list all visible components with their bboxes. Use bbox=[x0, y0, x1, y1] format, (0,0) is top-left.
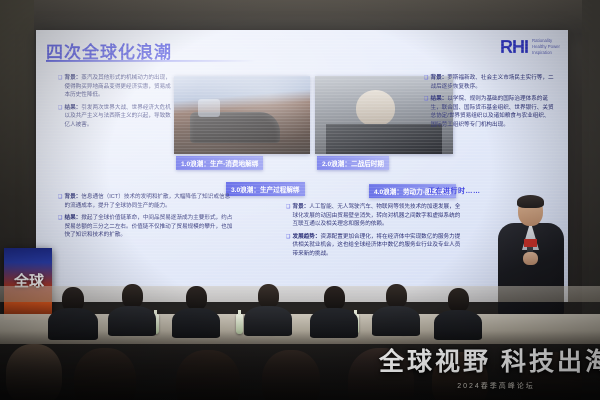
logo-mark-text: RHI bbox=[500, 38, 528, 56]
paragraph-lead: 背景： bbox=[64, 194, 81, 200]
foreground-head bbox=[6, 344, 62, 400]
paragraph-text: 引发两次世界大战、世界经济大危机以及共产主义与法西斯主义的兴起，导致数亿人被害。 bbox=[64, 105, 170, 128]
audience-head bbox=[386, 284, 407, 308]
paragraph-lead: 背景： bbox=[292, 204, 309, 210]
rollup-banner: 全球 bbox=[4, 248, 52, 320]
audience-head bbox=[122, 284, 143, 308]
wave-chip-3: 3.0浪潮：生产过程解绑 bbox=[226, 182, 305, 196]
slide-photo-steam-train bbox=[174, 76, 310, 154]
paragraph-body: 背景：蒸汽及其他形式的机械动力的出现，使得购买异地商品变得更经济实惠，贸易成本历… bbox=[64, 74, 176, 100]
square-bullet-icon: ❑ bbox=[424, 95, 428, 129]
square-bullet-icon: ❑ bbox=[58, 214, 62, 240]
audience-shoulders bbox=[48, 308, 98, 340]
square-bullet-icon: ❑ bbox=[286, 203, 290, 229]
wave-chip-2: 2.0浪潮：二战后时期 bbox=[317, 156, 389, 170]
conference-photo: 四次全球化浪潮 RHI Rationality Healthy Power In… bbox=[0, 0, 600, 400]
audience-shoulders bbox=[434, 310, 482, 340]
slide-column-wave4: ❑ 背景：人工智能、无人驾驶汽车、物联网等领先技术的加速发展，全球化发展的动因由… bbox=[286, 203, 462, 262]
foreground-head bbox=[432, 352, 488, 400]
rhi-logo: RHI Rationality Healthy Power Inspiratio… bbox=[500, 38, 560, 57]
slide-paragraph: ❑ 结果：掀起了全球价值链革命，中间品贸易逐渐成为主要形式，约占贸易总额的三分之… bbox=[58, 214, 234, 240]
paragraph-body: 背景：信息通信（ICT）技术的发明和扩散，大幅降低了知识或信息的流通成本，提升了… bbox=[64, 193, 234, 210]
slide-column-wave2: ❑ 背景：罗斯福新政、社会主义市场民主实行等，二战后逐步恢复秩序。 ❑ 结果：以… bbox=[424, 74, 554, 133]
foreground-head bbox=[520, 352, 582, 400]
square-bullet-icon: ❑ bbox=[286, 233, 290, 259]
slide-paragraph: ❑ 背景：蒸汽及其他形式的机械动力的出现，使得购买异地商品变得更经济实惠，贸易成… bbox=[58, 74, 176, 100]
square-bullet-icon: ❑ bbox=[424, 74, 428, 91]
square-bullet-icon: ❑ bbox=[58, 193, 62, 210]
microphone-flag bbox=[524, 239, 537, 247]
slide-paragraph: ❑ 背景：信息通信（ICT）技术的发明和扩散，大幅降低了知识或信息的流通成本，提… bbox=[58, 193, 234, 210]
title-underline bbox=[46, 60, 256, 62]
slide-column-wave3: ❑ 背景：信息通信（ICT）技术的发明和扩散，大幅降低了知识或信息的流通成本，提… bbox=[58, 193, 234, 244]
water-bottle bbox=[236, 314, 243, 334]
foreground-head bbox=[176, 350, 240, 400]
paragraph-lead: 发展趋势： bbox=[292, 234, 320, 240]
square-bullet-icon: ❑ bbox=[58, 104, 62, 130]
paragraph-lead: 结果： bbox=[64, 105, 81, 111]
paragraph-text: 罗斯福新政、社会主义市场民主实行等，二战后逐步恢复秩序。 bbox=[430, 75, 553, 90]
slide-column-wave1: ❑ 背景：蒸汽及其他形式的机械动力的出现，使得购买异地商品变得更经济实惠，贸易成… bbox=[58, 74, 176, 133]
slide-paragraph: ❑ 背景：罗斯福新政、社会主义市场民主实行等，二战后逐步恢复秩序。 bbox=[424, 74, 554, 91]
wave-chip-1: 1.0浪潮：生产-消费地解绑 bbox=[176, 156, 263, 170]
audience-head bbox=[186, 286, 207, 310]
audience-shoulders bbox=[108, 306, 156, 336]
audience-head bbox=[258, 284, 279, 308]
paragraph-text: 信息通信（ICT）技术的发明和扩散，大幅降低了知识或信息的流通成本，提升了全球协… bbox=[64, 194, 230, 209]
paragraph-body: 结果：引发两次世界大战、世界经济大危机以及共产主义与法西斯主义的兴起，导致数亿人… bbox=[64, 104, 176, 130]
paragraph-text: 蒸汽及其他形式的机械动力的出现，使得购买异地商品变得更经济实惠，贸易成本历史性降… bbox=[64, 75, 170, 98]
logo-tagline: Rationality Healthy Power Inspiration bbox=[532, 38, 560, 57]
foreground-head bbox=[262, 350, 320, 400]
paragraph-lead: 结果： bbox=[64, 215, 81, 221]
square-bullet-icon: ❑ bbox=[58, 74, 62, 100]
foreground-head bbox=[74, 348, 136, 400]
paragraph-text: 以学院、规则为基础的国际治理体系的诞生，联合国、国际货币基金组织、世界银行、关贸… bbox=[430, 96, 553, 128]
table-back-row bbox=[0, 286, 600, 302]
paragraph-body: 发展趋势：资源配置更加合理化，将在经济体中实现数亿的服务力提供相关就业机会，这也… bbox=[292, 233, 462, 259]
ceiling-light-glow bbox=[0, 0, 600, 34]
speaker-hand bbox=[523, 252, 538, 265]
paragraph-lead: 结果： bbox=[430, 96, 447, 102]
slide-paragraph: ❑ 背景：人工智能、无人驾驶汽车、物联网等领先技术的加速发展，全球化发展的动因由… bbox=[286, 203, 462, 229]
speaker-hair bbox=[517, 195, 544, 208]
audience-shoulders bbox=[172, 308, 220, 338]
slide-paragraph: ❑ 发展趋势：资源配置更加合理化，将在经济体中实现数亿的服务力提供相关就业机会，… bbox=[286, 233, 462, 259]
paragraph-body: 结果：以学院、规则为基础的国际治理体系的诞生，联合国、国际货币基金组织、世界银行… bbox=[430, 95, 554, 129]
audience-shoulders bbox=[244, 306, 292, 336]
audience-head bbox=[448, 288, 469, 312]
paragraph-body: 背景：人工智能、无人驾驶汽车、物联网等领先技术的加速发展，全球化发展的动因由贸易… bbox=[292, 203, 462, 229]
audience-shoulders bbox=[310, 308, 358, 338]
projection-screen: 四次全球化浪潮 RHI Rationality Healthy Power In… bbox=[36, 30, 568, 302]
status-note: 正在进行时…… bbox=[428, 186, 481, 196]
slide-paragraph: ❑ 结果：引发两次世界大战、世界经济大危机以及共产主义与法西斯主义的兴起，导致数… bbox=[58, 104, 176, 130]
paragraph-text: 掀起了全球价值链革命，中间品贸易逐渐成为主要形式，约占贸易总额的三分之二左右。价… bbox=[64, 215, 232, 238]
slide-paragraph: ❑ 结果：以学院、规则为基础的国际治理体系的诞生，联合国、国际货币基金组织、世界… bbox=[424, 95, 554, 129]
foreground-head bbox=[348, 348, 414, 400]
audience-head bbox=[324, 286, 345, 310]
paragraph-body: 结果：掀起了全球价值链革命，中间品贸易逐渐成为主要形式，约占贸易总额的三分之二左… bbox=[64, 214, 234, 240]
audience-shoulders bbox=[372, 306, 420, 336]
paragraph-lead: 背景： bbox=[430, 75, 447, 81]
paragraph-body: 背景：罗斯福新政、社会主义市场民主实行等，二战后逐步恢复秩序。 bbox=[430, 74, 554, 91]
paragraph-lead: 背景： bbox=[64, 75, 81, 81]
paragraph-text: 人工智能、无人驾驶汽车、物联网等领先技术的加速发展，全球化发展的动因由贸易壁垒消… bbox=[292, 204, 460, 227]
